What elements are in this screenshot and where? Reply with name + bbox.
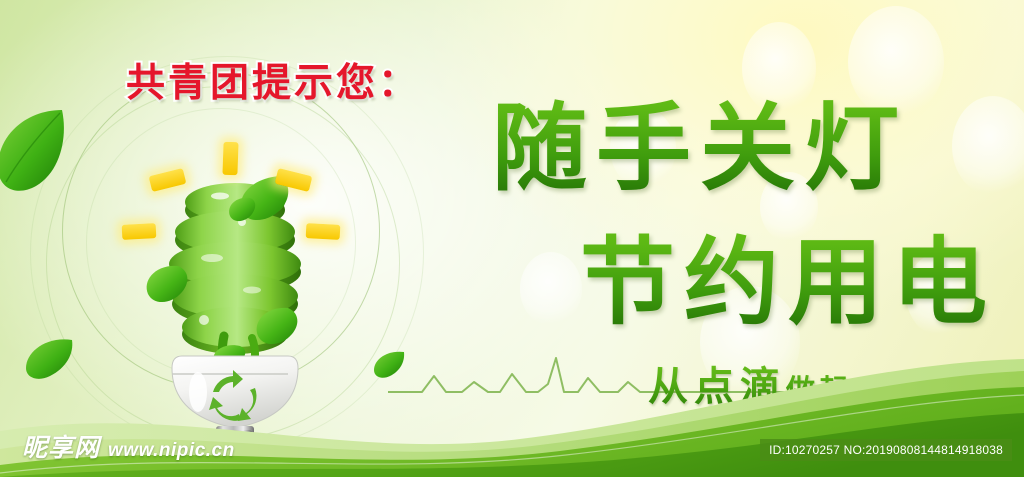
image-id-bar: ID:10270257 NO:20190808144814918038 — [760, 439, 1012, 461]
leaf-decoration-left-large — [0, 104, 74, 196]
slogan-line-2: 节约用电 — [580, 206, 996, 343]
light-ray — [306, 223, 341, 240]
bokeh-circle — [520, 252, 582, 326]
light-ray — [222, 142, 238, 176]
bokeh-circle — [952, 96, 1024, 196]
poster-canvas: 共青团提示您： 随手关灯 节约用电 从点滴做起 昵享网 w — [0, 0, 1024, 477]
light-ray — [122, 223, 157, 240]
slogan-line-1: 随手关灯 — [492, 72, 908, 209]
page-headline: 共青团提示您： — [126, 52, 420, 108]
